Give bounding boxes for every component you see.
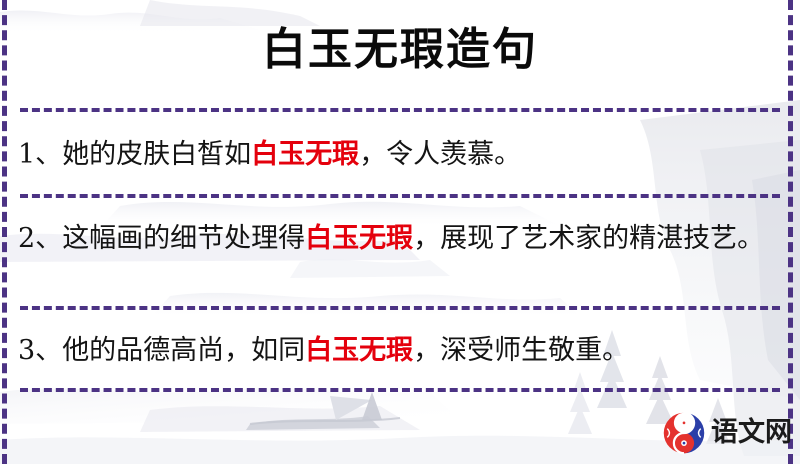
sentence-after-3: ，深受师生敬重。 (413, 335, 629, 366)
divider-4 (20, 388, 780, 392)
sentence-index-1: 1、 (18, 139, 62, 170)
keyword-3: 白玉无瑕 (305, 335, 413, 366)
left-dashed-border (2, 0, 7, 464)
sentence-before-3: 他的品德高尚，如同 (62, 335, 305, 366)
keyword-1: 白玉无瑕 (251, 139, 359, 170)
sentence-before-2: 这幅画的细节处理得 (62, 223, 305, 254)
sentence-before-1: 她的皮肤白皙如 (62, 139, 251, 170)
sentence-item-1: 1、她的皮肤白皙如白玉无瑕，令人羡慕。 (18, 132, 770, 177)
divider-2 (20, 194, 780, 198)
sentence-item-3: 3、他的品德高尚，如同白玉无瑕，深受师生敬重。 (18, 328, 770, 373)
divider-1 (20, 108, 780, 112)
sentence-page: 白玉无瑕造句 1、她的皮肤白皙如白玉无瑕，令人羡慕。 2、这幅画的细节处理得白玉… (0, 0, 800, 464)
divider-3 (20, 306, 780, 310)
sentence-after-1: ，令人羡慕。 (359, 139, 521, 170)
logo-text: 语文网 (711, 418, 792, 448)
sentence-index-3: 3、 (18, 335, 62, 366)
page-title: 白玉无瑕造句 (0, 22, 800, 78)
sentence-item-2: 2、这幅画的细节处理得白玉无瑕，展现了艺术家的精湛技艺。 (18, 216, 770, 261)
keyword-2: 白玉无瑕 (305, 223, 413, 254)
yinyang-fish-logo-icon (662, 411, 706, 455)
site-logo[interactable]: 语文网 (662, 410, 792, 456)
sentence-index-2: 2、 (18, 223, 62, 254)
right-dashed-border (788, 0, 793, 464)
sentence-after-2: ，展现了艺术家的精湛技艺。 (413, 223, 764, 254)
